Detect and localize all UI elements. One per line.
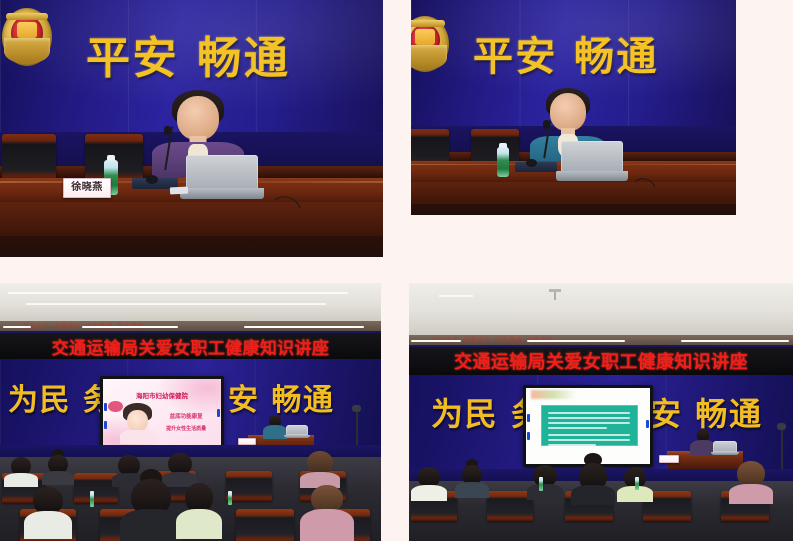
laptop-screen bbox=[561, 141, 623, 181]
water-bottle bbox=[635, 477, 639, 490]
mouse bbox=[526, 159, 537, 167]
audience-member bbox=[300, 451, 340, 483]
screen-indicator bbox=[104, 403, 107, 411]
presenter-nameplate bbox=[659, 455, 679, 463]
audience-member bbox=[24, 487, 72, 537]
event-banner: 交通运输局关爱女职工健康知识讲座 bbox=[409, 347, 793, 375]
wall-slogan-pingan-changtong: 平安 畅通 bbox=[86, 22, 291, 86]
chair-left bbox=[2, 134, 56, 180]
audience-member bbox=[411, 467, 447, 497]
ceiling-light-strip bbox=[26, 303, 326, 305]
desk-base bbox=[0, 236, 383, 257]
led-ticker: 安全生产 文明出行 平安畅通 为民服务 bbox=[409, 335, 793, 345]
desk-front-panel bbox=[411, 182, 736, 204]
wall-slogan-right: 安 畅通 bbox=[228, 375, 334, 419]
audience-member bbox=[571, 459, 615, 499]
nameplate-text: 徐晓燕 bbox=[71, 183, 103, 193]
ceiling bbox=[409, 283, 793, 335]
ceiling bbox=[0, 283, 381, 321]
projector-pole bbox=[554, 292, 556, 300]
audience-area bbox=[0, 457, 381, 541]
audience-member bbox=[455, 463, 489, 495]
photo-top-left[interactable]: 平安 畅通 徐晓燕 bbox=[0, 0, 383, 257]
screen-indicator bbox=[104, 421, 107, 429]
laptop-screen bbox=[186, 155, 258, 199]
wall-slogan-left: 为民 务 bbox=[8, 375, 114, 419]
slide-teal bbox=[526, 388, 650, 464]
presenter-nameplate bbox=[238, 438, 256, 445]
presenter-laptop bbox=[713, 441, 737, 455]
microphone-icon bbox=[160, 126, 170, 170]
slide-title: 海阳市妇幼保健院 bbox=[103, 390, 221, 400]
slide-portrait-image bbox=[117, 403, 157, 443]
photo-collage-page: 平安 畅通 徐晓燕 bbox=[0, 0, 793, 541]
police-badge-icon bbox=[2, 8, 52, 66]
camera-icon bbox=[777, 423, 786, 430]
event-banner-text: 交通运输局关爱女职工健康知识讲座 bbox=[52, 334, 329, 359]
audience-member bbox=[527, 465, 563, 497]
mouse bbox=[146, 175, 158, 184]
audience-member bbox=[42, 453, 74, 481]
slide-decoration bbox=[531, 390, 576, 399]
mobile-phone bbox=[170, 187, 188, 195]
audience-area bbox=[409, 481, 793, 541]
water-bottle bbox=[539, 477, 543, 491]
wall-slogan-pingan-changtong: 平安 畅通 bbox=[473, 24, 659, 82]
screen-indicator bbox=[527, 414, 530, 422]
photo-bottom-left[interactable]: 安全生产 文明出行 平安畅通 为民服务 交通运输局关爱女职工健康知识讲座 为民 … bbox=[0, 283, 381, 541]
slide-text-block bbox=[541, 405, 638, 446]
audience-member bbox=[729, 461, 773, 499]
seat bbox=[236, 509, 294, 541]
microphone-icon bbox=[539, 120, 549, 158]
police-badge-icon bbox=[411, 16, 449, 72]
desk-base bbox=[411, 204, 736, 215]
screen-indicator bbox=[527, 432, 530, 440]
projection-screen[interactable]: 海阳市妇幼保健院 盆底功能康复 提升女性生活质量 bbox=[100, 376, 224, 454]
desk-front-panel bbox=[0, 202, 383, 236]
water-bottle bbox=[228, 491, 232, 505]
ceiling-light-strip bbox=[8, 292, 348, 294]
audience-member bbox=[176, 483, 222, 539]
led-ticker: 安全生产 文明出行 平安畅通 为民服务 bbox=[0, 321, 381, 331]
seat bbox=[226, 471, 272, 501]
event-banner: 交通运输局关爱女职工健康知识讲座 bbox=[0, 333, 381, 359]
ceiling-light-strip bbox=[439, 295, 473, 297]
camera-tripod bbox=[781, 429, 783, 473]
nameplate: 徐晓燕 bbox=[63, 178, 111, 198]
slide-pink: 海阳市妇幼保健院 盆底功能康复 提升女性生活质量 bbox=[103, 379, 221, 451]
presenter-figure bbox=[262, 415, 288, 437]
screen-indicator bbox=[217, 409, 220, 417]
photo-top-right[interactable]: 平安 畅通 bbox=[411, 0, 736, 215]
event-banner-text: 交通运输局关爱女职工健康知识讲座 bbox=[454, 348, 748, 374]
presenter-laptop bbox=[286, 425, 308, 438]
camera-icon bbox=[352, 405, 361, 412]
screen-indicator bbox=[646, 420, 649, 428]
water-bottle bbox=[90, 491, 94, 507]
water-bottle bbox=[497, 143, 509, 177]
audience-member bbox=[120, 475, 182, 539]
slide-line-1: 盆底功能康复 bbox=[155, 412, 218, 420]
audience-member bbox=[4, 457, 38, 483]
audience-member bbox=[300, 485, 354, 541]
slide-line-2: 提升女性生活质量 bbox=[155, 425, 218, 432]
photo-bottom-right[interactable]: 安全生产 文明出行 平安畅通 为民服务 交通运输局关爱女职工健康知识讲座 为民 … bbox=[409, 283, 793, 541]
